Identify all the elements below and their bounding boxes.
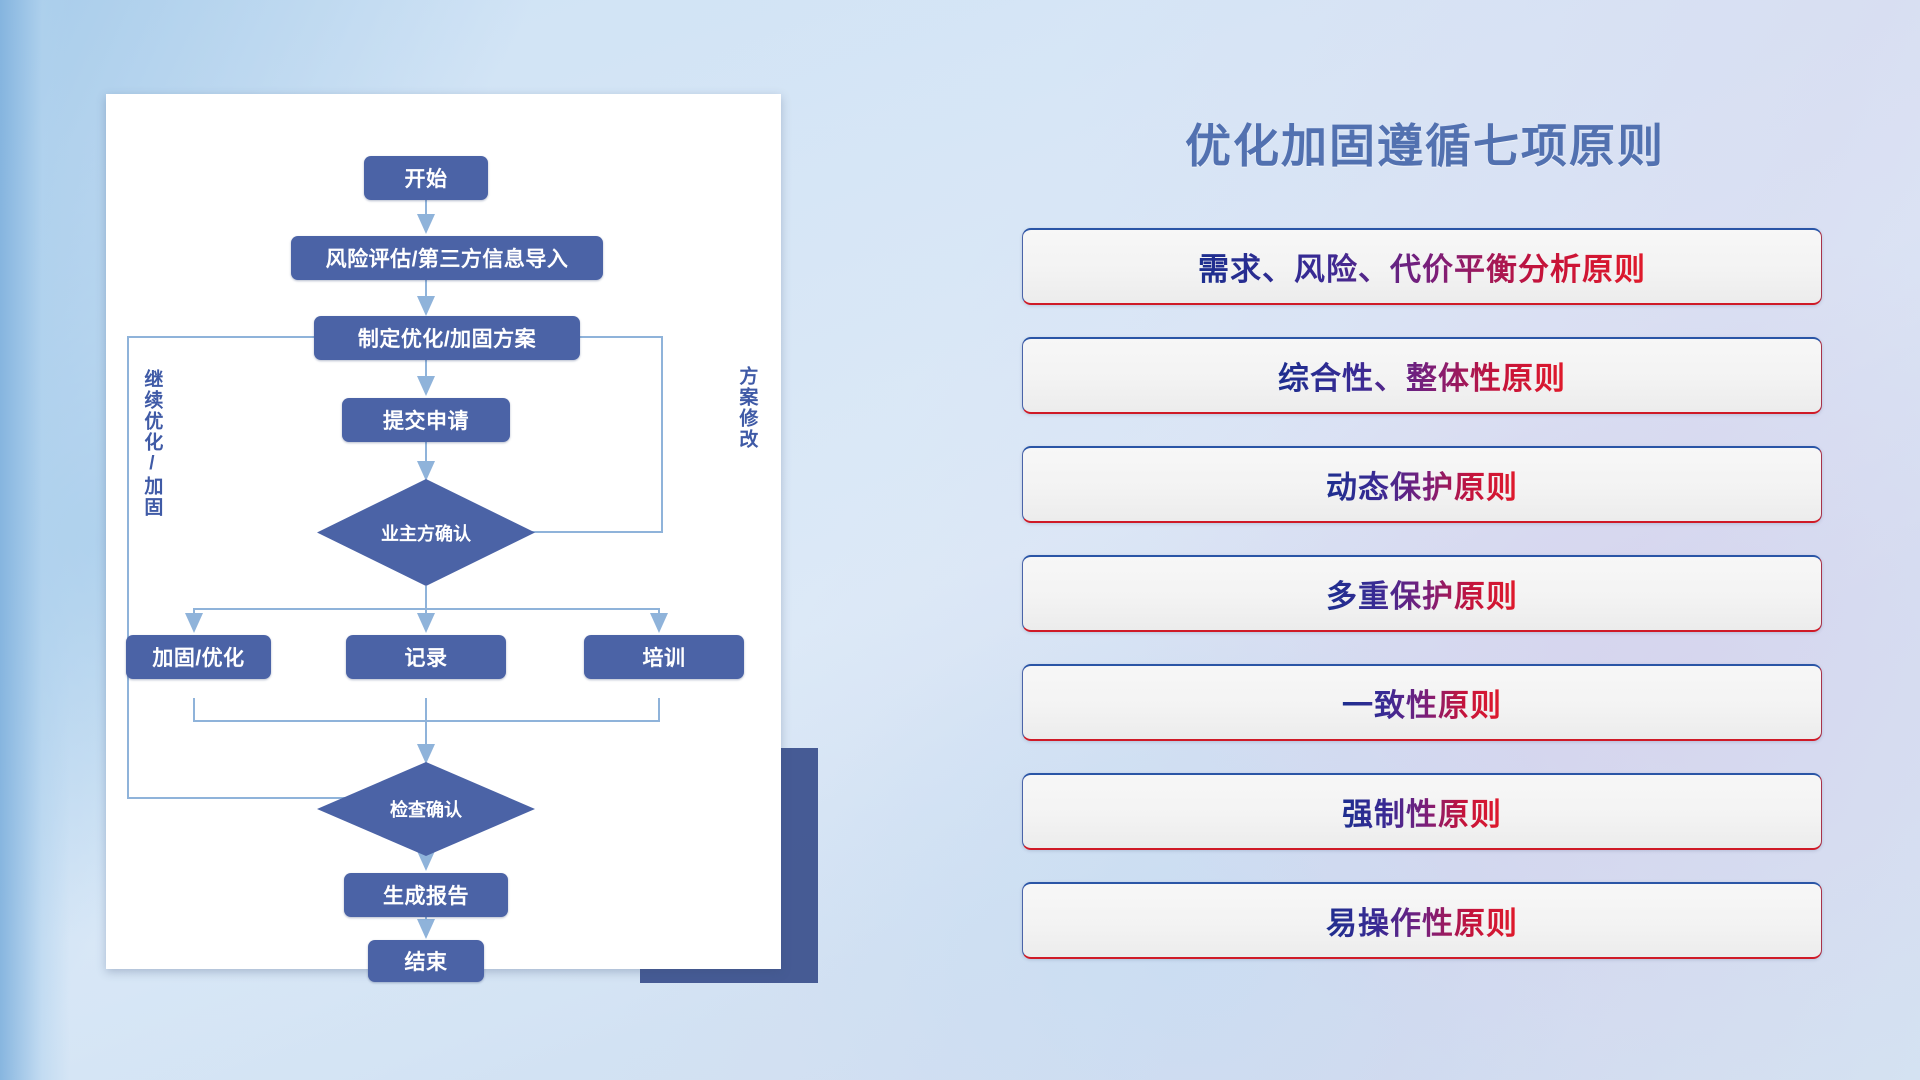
flow-node-label: 结束	[405, 946, 448, 976]
flow-node-label: 记录	[405, 642, 448, 672]
flow-node-record[interactable]: 记录	[346, 635, 506, 679]
principles-panel: 优化加固遵循七项原则 需求、风险、代价平衡分析原则 综合性、整体性原则 动态保护…	[1010, 60, 1840, 1020]
principle-label: 强制性原则	[1342, 789, 1502, 834]
flow-node-submit-application[interactable]: 提交申请	[342, 398, 510, 442]
principle-label: 易操作性原则	[1326, 898, 1518, 943]
principle-label: 需求、风险、代价平衡分析原则	[1198, 244, 1646, 289]
principle-item[interactable]: 动态保护原则	[1022, 446, 1822, 523]
flow-node-end[interactable]: 结束	[368, 940, 484, 982]
principles-list: 需求、风险、代价平衡分析原则 综合性、整体性原则 动态保护原则 多重保护原则 一…	[1022, 228, 1822, 991]
principle-item[interactable]: 强制性原则	[1022, 773, 1822, 850]
flow-edge-label-plan-revision: 方案修改	[737, 366, 756, 450]
principle-label: 多重保护原则	[1326, 571, 1518, 616]
flow-node-label: 提交申请	[383, 405, 469, 435]
flow-node-training[interactable]: 培训	[584, 635, 744, 679]
flow-edge-label-continue-optimize: 继续优化/加固	[142, 369, 161, 518]
flow-node-harden-optimize[interactable]: 加固/优化	[126, 635, 271, 679]
principle-item[interactable]: 易操作性原则	[1022, 882, 1822, 959]
flow-node-start[interactable]: 开始	[364, 156, 488, 200]
flow-node-label: 检查确认	[390, 796, 462, 822]
principle-item[interactable]: 需求、风险、代价平衡分析原则	[1022, 228, 1822, 305]
flow-node-label: 加固/优化	[152, 642, 244, 672]
flow-node-risk-assessment[interactable]: 风险评估/第三方信息导入	[291, 236, 603, 280]
flowchart-card: 开始 风险评估/第三方信息导入 制定优化/加固方案 提交申请 业主方确认 加固/…	[106, 94, 781, 969]
principle-label: 动态保护原则	[1326, 462, 1518, 507]
principle-item[interactable]: 多重保护原则	[1022, 555, 1822, 632]
principle-item[interactable]: 综合性、整体性原则	[1022, 337, 1822, 414]
principle-label: 综合性、整体性原则	[1278, 353, 1566, 398]
flow-node-label: 培训	[643, 642, 686, 672]
flow-node-generate-report[interactable]: 生成报告	[344, 873, 508, 917]
flow-node-label: 风险评估/第三方信息导入	[326, 243, 569, 273]
flow-node-plan[interactable]: 制定优化/加固方案	[314, 316, 580, 360]
flow-node-label: 业主方确认	[381, 520, 471, 546]
background-left-column	[0, 0, 70, 1080]
principle-label: 一致性原则	[1342, 680, 1502, 725]
principle-item[interactable]: 一致性原则	[1022, 664, 1822, 741]
flow-node-label: 生成报告	[383, 880, 469, 910]
principles-title: 优化加固遵循七项原则	[1010, 110, 1840, 176]
flow-node-label: 制定优化/加固方案	[358, 323, 536, 353]
flow-node-label: 开始	[405, 163, 448, 193]
flowchart-canvas: 开始 风险评估/第三方信息导入 制定优化/加固方案 提交申请 业主方确认 加固/…	[106, 94, 781, 969]
